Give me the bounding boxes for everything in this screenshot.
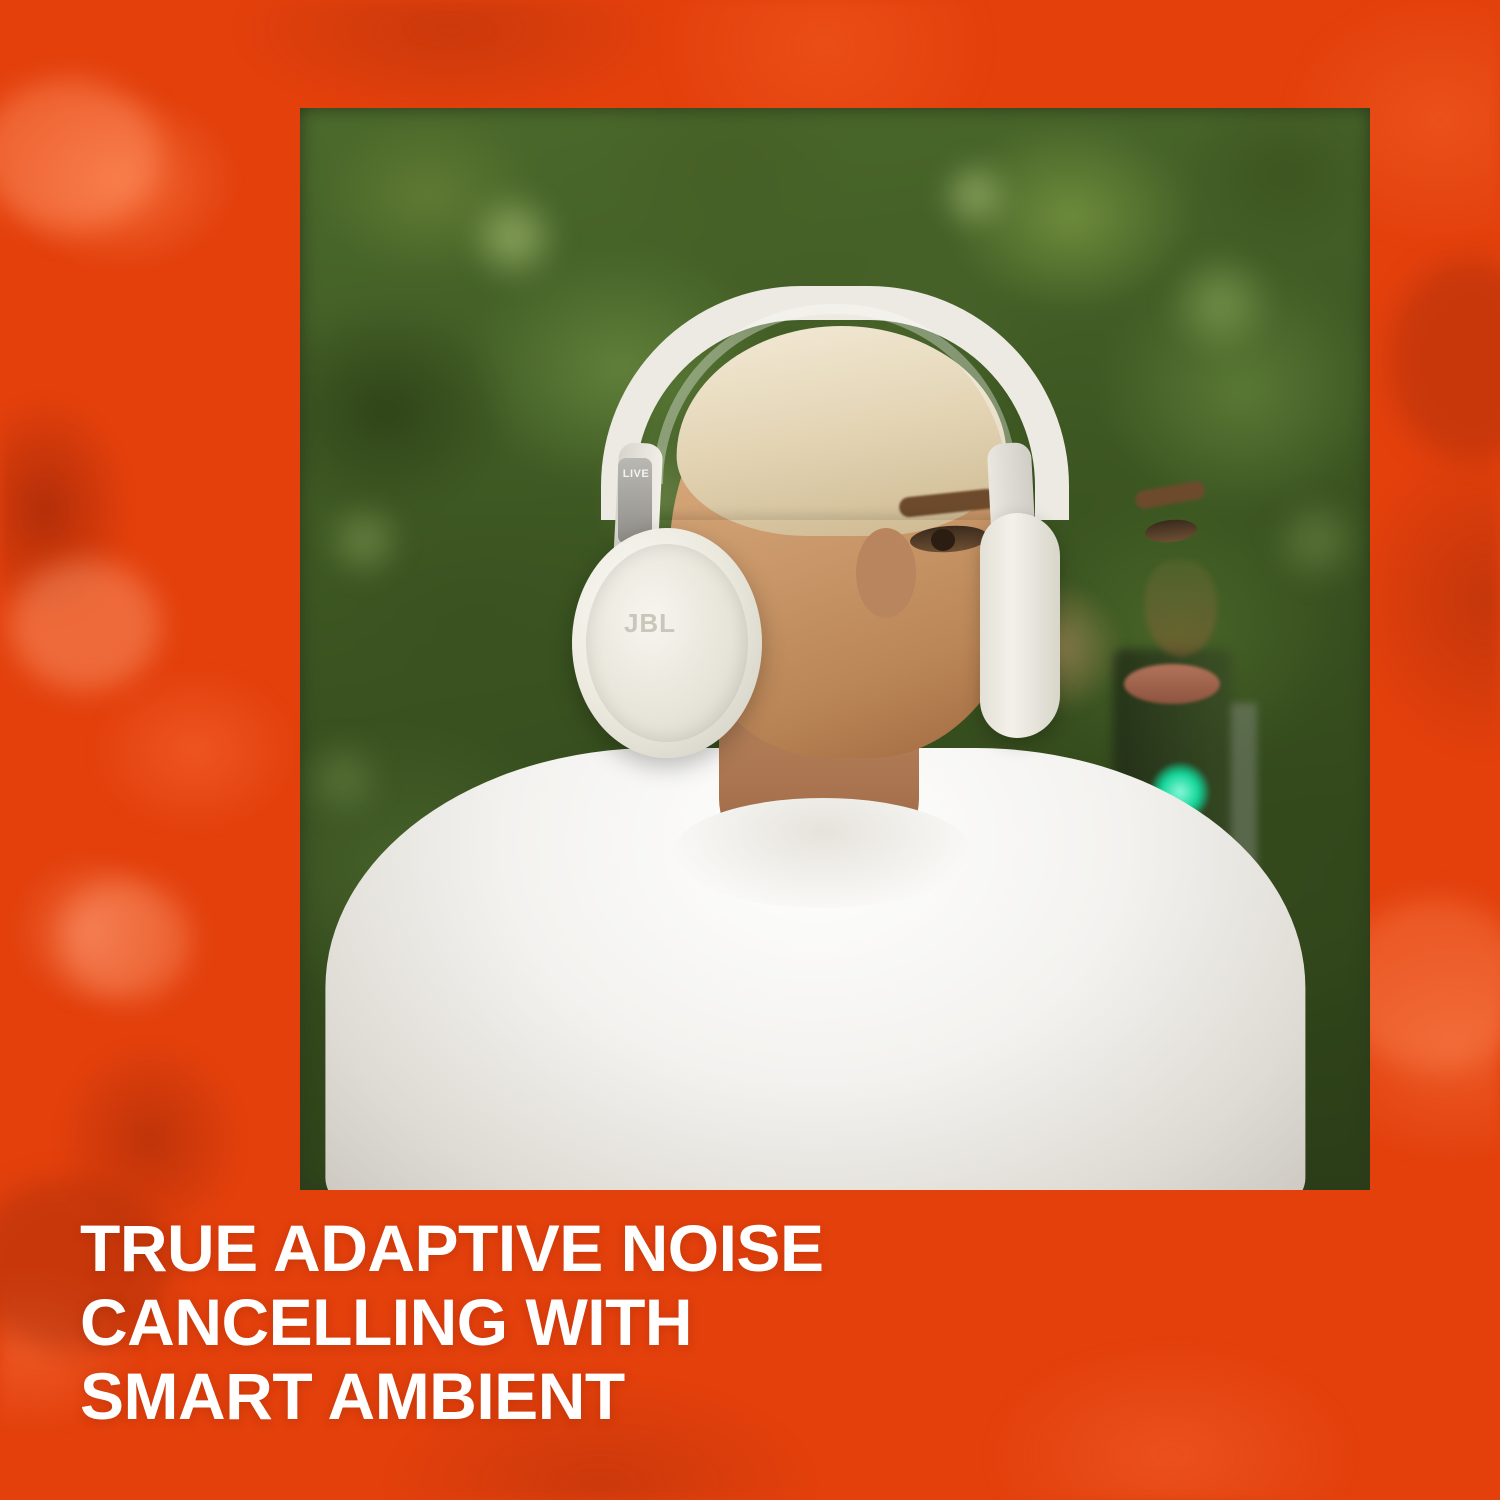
background-blob bbox=[0, 80, 160, 230]
lips bbox=[1124, 664, 1220, 704]
headline-line-3: SMART AMBIENT bbox=[80, 1360, 1280, 1434]
headphone-earcup-left-face bbox=[586, 544, 748, 742]
headphone-earcup-right bbox=[980, 513, 1060, 738]
shirt-collar bbox=[673, 798, 973, 908]
background-blob bbox=[60, 880, 190, 1000]
person-subject: LIVE JBL bbox=[300, 108, 1370, 1190]
ear bbox=[856, 528, 916, 618]
jbl-logo: JBL bbox=[600, 608, 700, 639]
headline-line-2: CANCELLING WITH bbox=[80, 1286, 1280, 1360]
nose bbox=[1145, 560, 1217, 656]
background-blob bbox=[10, 560, 160, 690]
headphone-model-label: LIVE bbox=[620, 468, 652, 480]
product-poster: LIVE JBL TRUE ADAPTIVE NOISE CANCELLING … bbox=[0, 0, 1500, 1500]
headline-line-1: TRUE ADAPTIVE NOISE bbox=[80, 1212, 1280, 1286]
background-blob bbox=[1390, 260, 1500, 460]
eyebrow-right bbox=[1134, 480, 1206, 510]
headline: TRUE ADAPTIVE NOISE CANCELLING WITH SMAR… bbox=[80, 1212, 1280, 1434]
eye-right bbox=[1144, 517, 1198, 544]
hero-photo: LIVE JBL bbox=[300, 108, 1370, 1190]
